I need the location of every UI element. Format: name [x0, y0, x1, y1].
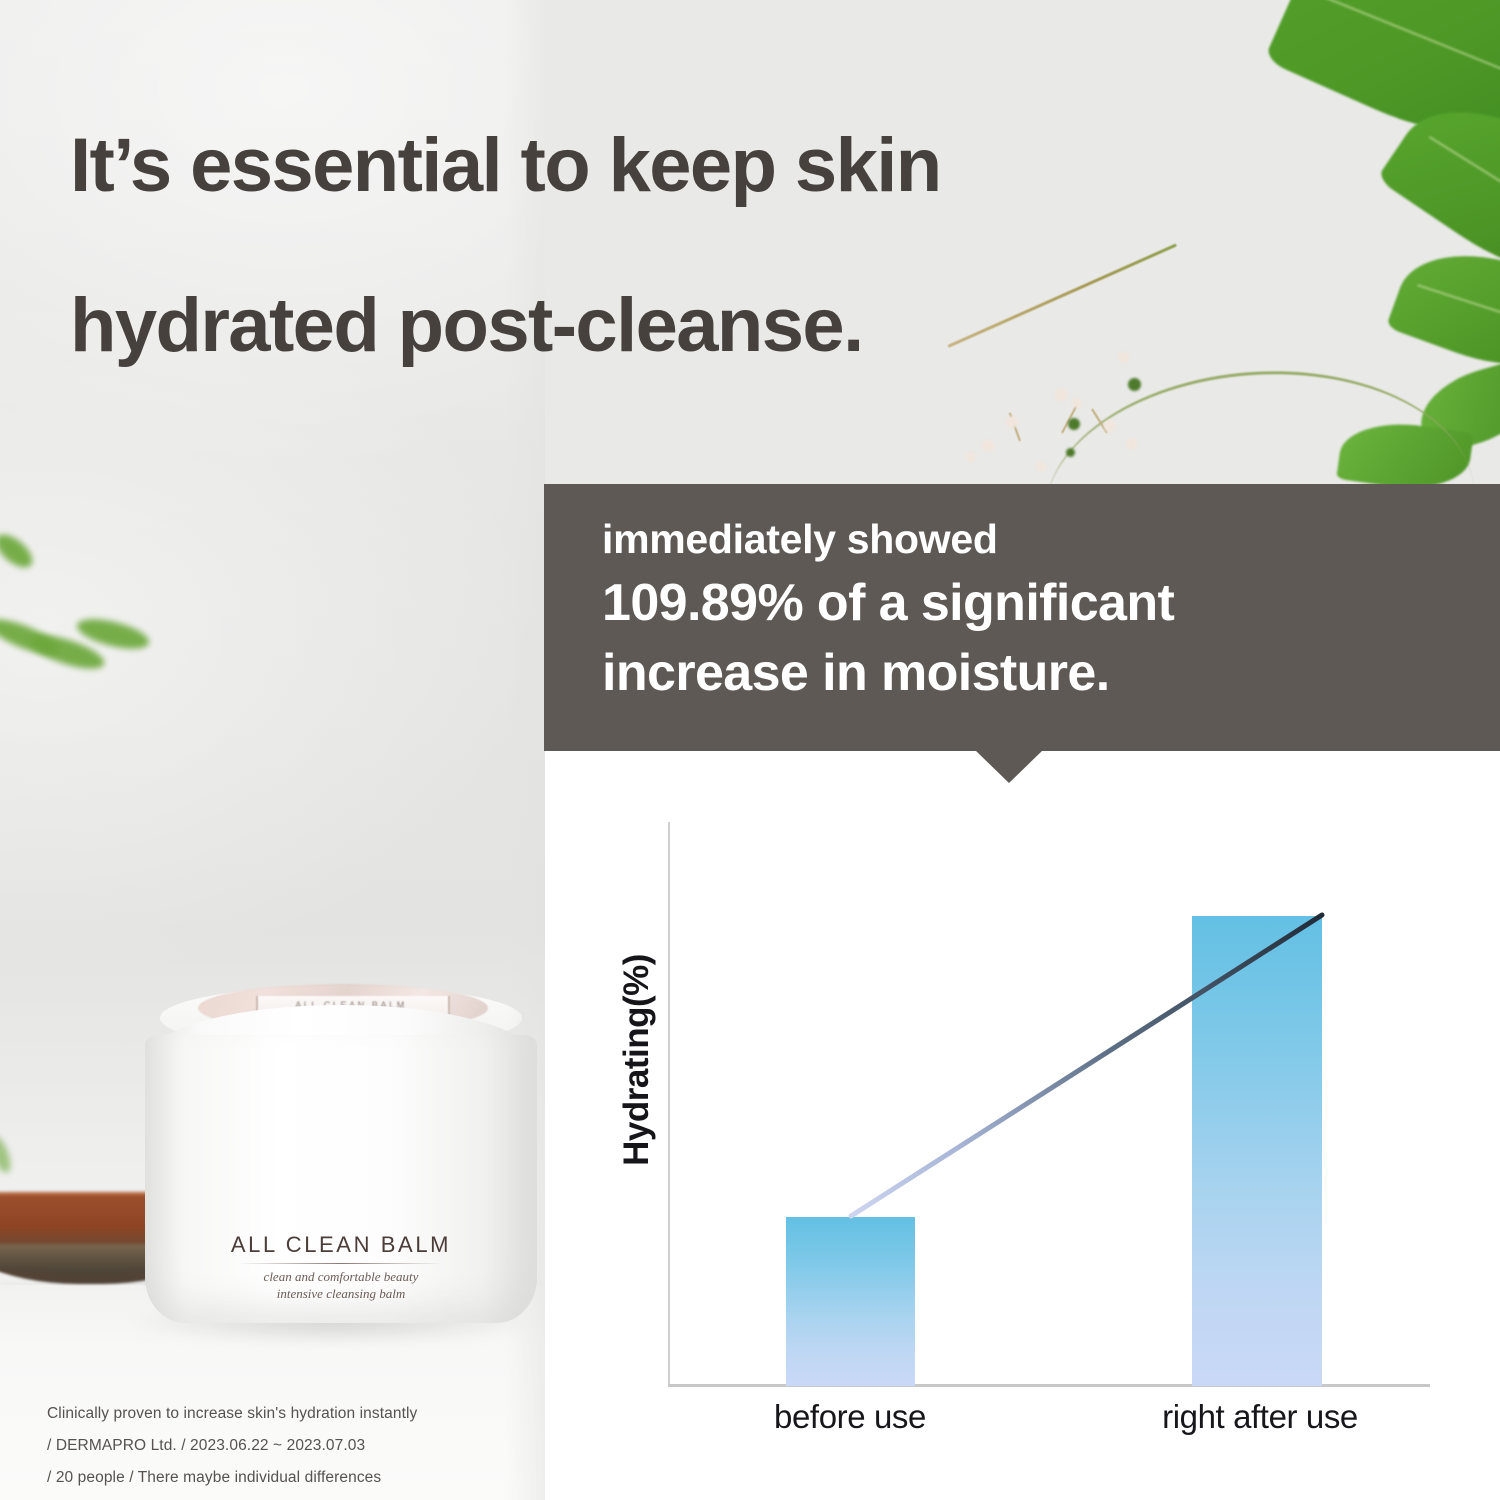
- callout-text-block: immediately showed 109.89% of a signific…: [602, 510, 1472, 708]
- flower-bud-icon: [982, 440, 994, 452]
- flower-bud-icon: [1006, 416, 1018, 428]
- leaf-vein: [1417, 284, 1500, 334]
- footnote-line-3: / 20 people / There maybe individual dif…: [47, 1462, 547, 1494]
- headline-line-2: hydrated post-cleanse.: [70, 246, 1300, 406]
- leaf-vein: [1428, 136, 1500, 249]
- flower-bud-icon: [966, 452, 976, 462]
- product-label-divider: [238, 1263, 444, 1264]
- x-tick-label-before-use: before use: [695, 1398, 1005, 1436]
- product-tagline-line2: intensive cleansing balm: [277, 1286, 406, 1301]
- flower-bud-icon: [1036, 462, 1046, 472]
- callout-line-2: 109.89% of a significant: [602, 568, 1472, 638]
- study-footnote: Clinically proven to increase skin's hyd…: [47, 1398, 547, 1494]
- bud-node-icon: [1066, 448, 1075, 457]
- bar-right-after-use: [1192, 916, 1322, 1386]
- bar-before-use: [786, 1217, 915, 1386]
- headline-line-1: It’s essential to keep skin: [70, 86, 1300, 246]
- product-tagline-line1: clean and comfortable beauty: [264, 1269, 419, 1284]
- hydration-bar-chart: Hydrating(%) before use right after use: [545, 750, 1500, 1500]
- product-name: ALL CLEAN BALM: [145, 1232, 537, 1258]
- callout-line-3: increase in moisture.: [602, 638, 1472, 708]
- product-tagline: clean and comfortable beauty intensive c…: [145, 1268, 537, 1302]
- footnote-line-2: / DERMAPRO Ltd. / 2023.06.22 ~ 2023.07.0…: [47, 1430, 547, 1462]
- flower-bud-icon: [1104, 420, 1116, 432]
- y-axis-label: Hydrating(%): [617, 930, 657, 1190]
- bud-node-icon: [1068, 418, 1080, 430]
- flower-bud-icon: [1126, 438, 1137, 449]
- product-infographic: ALL CLEAN BALM ALL CLEAN BALM clean and …: [0, 0, 1500, 1500]
- callout-line-1: immediately showed: [602, 510, 1472, 568]
- trend-line: [545, 750, 1500, 1500]
- statistic-callout: immediately showed 109.89% of a signific…: [544, 484, 1500, 751]
- footnote-line-1: Clinically proven to increase skin's hyd…: [47, 1398, 547, 1430]
- x-tick-label-right-after-use: right after use: [1090, 1398, 1430, 1436]
- headline: It’s essential to keep skin hydrated pos…: [70, 86, 1300, 406]
- leaf-icon: [1386, 229, 1500, 390]
- leaf-vein: [1319, 0, 1500, 90]
- y-axis-line: [668, 822, 670, 1386]
